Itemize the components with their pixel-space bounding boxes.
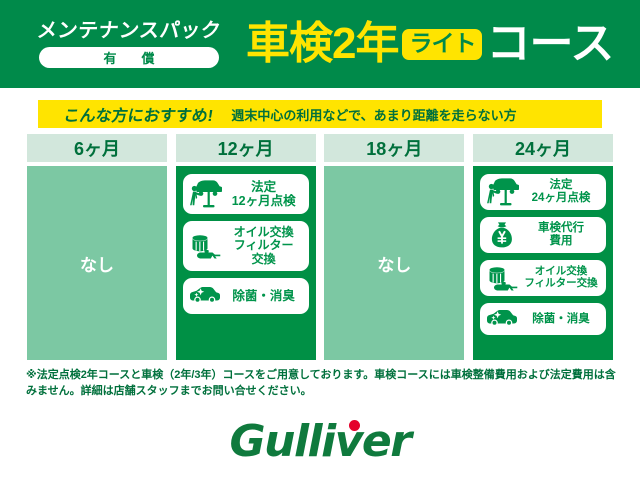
service-card[interactable]: 車検代行 費用 [480,217,606,253]
service-card[interactable]: 法定 24ヶ月点検 [480,174,606,210]
column-body: 法定 24ヶ月点検車検代行 費用オイル交換 フィルター交換除菌・消臭 [473,166,613,360]
maintenance-pack-block: メンテナンスパック 有 償 [18,20,240,68]
car-lift-inspection-icon [187,179,223,209]
footnote-text: ※法定点検2年コースと車検（2年/3年）コースをご用意しております。車検コースに… [26,368,618,400]
column-body: なし [27,166,167,360]
logo-red-dot-icon [349,420,360,431]
recommendation-headline: こんな方におすすめ! [62,102,215,126]
schedule-column-0: 6ヶ月なし [27,134,167,360]
oil-filter-change-icon [484,263,520,293]
recommendation-banner: こんな方におすすめ! 週末中心の利用などで、あまり距離を走らない方 [38,100,602,128]
service-card-label: オイル交換 フィルター交換 [520,266,602,290]
service-card[interactable]: オイル交換 フィルター交換 [480,260,606,296]
recommendation-detail: 週末中心の利用などで、あまり距離を走らない方 [231,105,516,124]
service-schedule-table: 6ヶ月なし12ヶ月法定 12ヶ月点検オイル交換 フィルター 交換除菌・消臭18ヶ… [27,134,613,360]
service-card[interactable]: オイル交換 フィルター 交換 [183,221,309,271]
paid-pill-label: 有 償 [97,48,160,67]
course-title-main: 車検2年 [246,22,398,66]
service-card-label: 除菌・消臭 [520,313,602,326]
schedule-column-1: 12ヶ月法定 12ヶ月点検オイル交換 フィルター 交換除菌・消臭 [176,134,316,360]
car-sanitize-icon [187,283,223,309]
maintenance-pack-label: メンテナンスパック [36,20,222,42]
brand-logo-text: Gulliver [230,416,411,467]
brand-logo: Gulliver [0,415,640,467]
paid-pill-badge: 有 償 [39,47,219,68]
course-title-block: 車検2年 ライト コース [246,22,640,66]
service-card[interactable]: 除菌・消臭 [183,278,309,314]
page-header: メンテナンスパック 有 償 車検2年 ライト コース [0,0,640,88]
no-service-label: なし [80,251,114,276]
service-card-label: 法定 12ヶ月点検 [223,180,305,208]
service-card-label: 車検代行 費用 [520,222,602,248]
column-heading: 24ヶ月 [473,134,613,162]
oil-filter-change-icon [187,231,223,261]
service-card-label: 除菌・消臭 [223,289,305,303]
service-card[interactable]: 除菌・消臭 [480,303,606,335]
service-card[interactable]: 法定 12ヶ月点検 [183,174,309,214]
column-body: なし [324,166,464,360]
schedule-column-2: 18ヶ月なし [324,134,464,360]
service-card-label: オイル交換 フィルター 交換 [223,226,305,266]
money-bag-yen-icon [484,220,520,250]
course-title-tail: コース [486,22,613,66]
car-sanitize-icon [484,306,520,332]
no-service-label: なし [377,251,411,276]
column-heading: 18ヶ月 [324,134,464,162]
car-lift-inspection-icon [484,177,520,207]
column-heading: 12ヶ月 [176,134,316,162]
schedule-column-3: 24ヶ月法定 24ヶ月点検車検代行 費用オイル交換 フィルター交換除菌・消臭 [473,134,613,360]
light-badge: ライト [402,29,482,60]
column-heading: 6ヶ月 [27,134,167,162]
column-body: 法定 12ヶ月点検オイル交換 フィルター 交換除菌・消臭 [176,166,316,360]
service-card-label: 法定 24ヶ月点検 [520,179,602,205]
brand-logo-word: Gulliver [230,416,411,467]
